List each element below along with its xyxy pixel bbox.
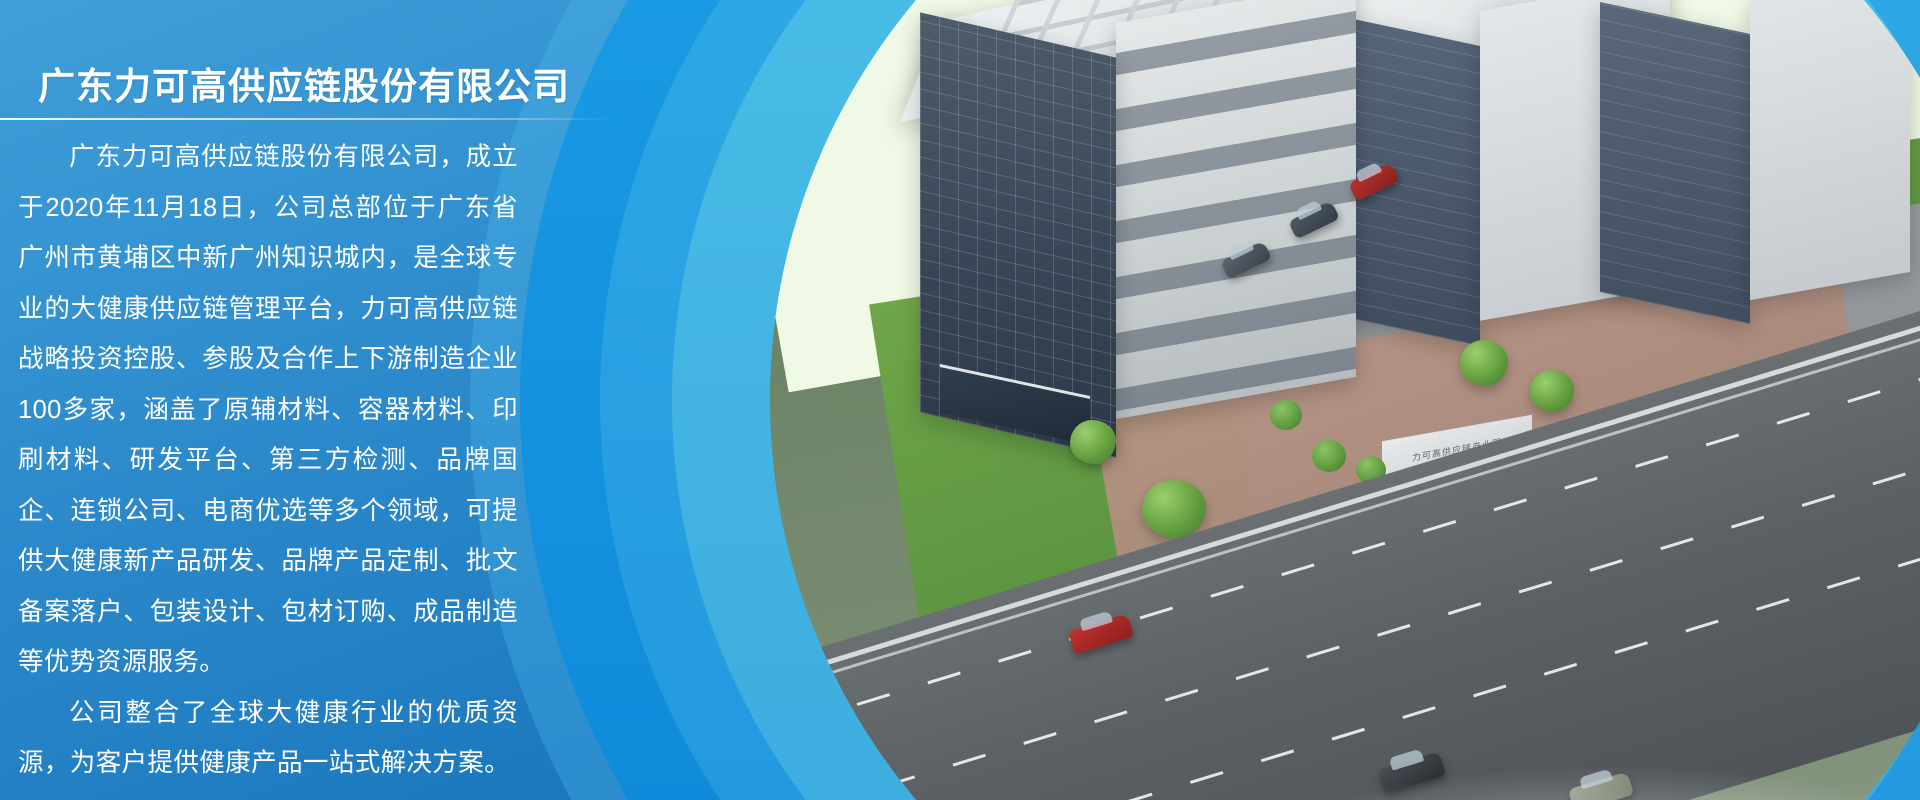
text-column: 广东力可高供应链股份有限公司 广东力可高供应链股份有限公司，成立于2020年11… xyxy=(0,0,640,800)
photo-circular-mask: 力可高供应链产业园 xyxy=(770,0,1920,800)
page-title: 广东力可高供应链股份有限公司 xyxy=(38,56,570,110)
photo-tree xyxy=(1530,370,1574,412)
photo-building-c-glass-face xyxy=(1600,2,1750,324)
company-profile-banner: 力可高供应链产业园 xyxy=(0,0,1920,800)
description-paragraph-1: 广东力可高供应链股份有限公司，成立于2020年11月18日，公司总部位于广东省广… xyxy=(18,132,518,688)
photo-tree xyxy=(1070,420,1116,464)
photo-shrub xyxy=(1270,400,1302,430)
photo-bottom-haze xyxy=(1310,760,1920,800)
description-paragraph-2: 公司整合了全球大健康行业的优质资源，为客户提供健康产品一站式解决方案。 xyxy=(18,688,518,789)
title-divider xyxy=(0,118,612,120)
campus-aerial-photo: 力可高供应链产业园 xyxy=(770,0,1920,800)
company-description: 广东力可高供应链股份有限公司，成立于2020年11月18日，公司总部位于广东省广… xyxy=(18,132,518,789)
photo-building-c-side xyxy=(1750,0,1910,300)
photo-tree xyxy=(1142,480,1206,538)
photo-shrub xyxy=(1312,440,1346,472)
photo-tree xyxy=(1460,340,1508,386)
